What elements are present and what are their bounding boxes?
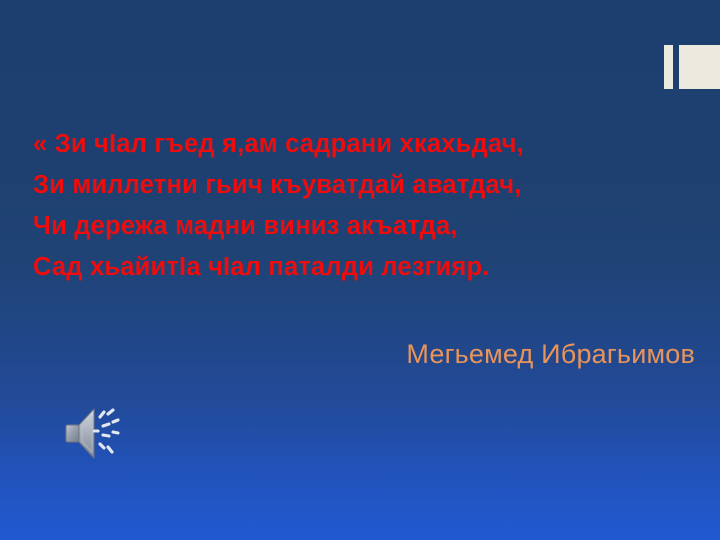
speaker-sound-icon[interactable] xyxy=(58,398,128,468)
accent-bar-decoration xyxy=(664,45,673,89)
poem-line-4: Сад хьайитӀа чӀал паталди лезгияр. xyxy=(33,247,693,288)
author-attribution: Мегьемед Ибрагьимов xyxy=(33,339,695,370)
presentation-slide: « Зи чӀал гъед я,ам садрани хкахьдач, Зи… xyxy=(0,0,720,540)
poem-line-1: « Зи чӀал гъед я,ам садрани хкахьдач, xyxy=(33,124,693,165)
accent-block-decoration xyxy=(679,45,720,89)
poem-text-block: « Зи чӀал гъед я,ам садрани хкахьдач, Зи… xyxy=(33,124,693,288)
poem-line-3: Чи дережа мадни виниз акъатда, xyxy=(33,206,693,247)
poem-line-2: Зи миллетни гьич къуватдай аватдач, xyxy=(33,165,693,206)
